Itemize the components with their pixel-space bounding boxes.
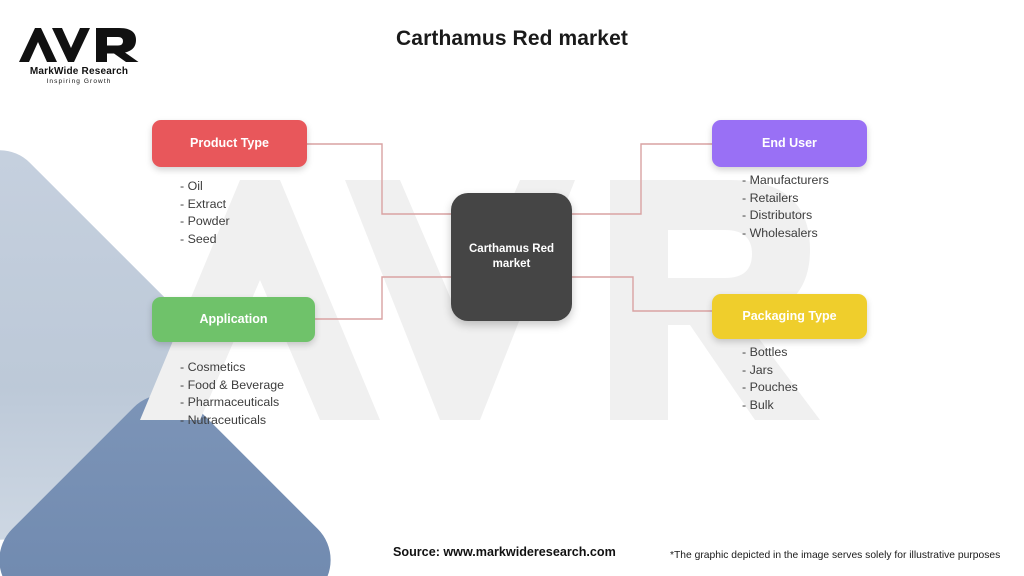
list-item: - Retailers xyxy=(742,190,829,208)
list-item: - Pharmaceuticals xyxy=(180,394,284,412)
segment-title-application: Application xyxy=(199,313,267,327)
footer-source: Source: www.markwideresearch.com xyxy=(393,545,616,559)
list-item: - Extract xyxy=(180,196,230,214)
list-item: - Jars xyxy=(742,362,798,380)
list-item: - Distributors xyxy=(742,207,829,225)
segment-header-product-type[interactable]: Product Type xyxy=(152,120,307,167)
segment-title-product-type: Product Type xyxy=(190,137,269,151)
center-node[interactable]: Carthamus Red market xyxy=(451,193,572,321)
list-item: - Food & Beverage xyxy=(180,377,284,395)
segment-list-product-type: - Oil - Extract - Powder - Seed xyxy=(180,178,230,248)
segment-list-application: - Cosmetics - Food & Beverage - Pharmace… xyxy=(180,359,284,429)
segment-header-application[interactable]: Application xyxy=(152,297,315,342)
list-item: - Powder xyxy=(180,213,230,231)
list-item: - Bulk xyxy=(742,397,798,415)
list-item: - Manufacturers xyxy=(742,172,829,190)
list-item: - Oil xyxy=(180,178,230,196)
list-item: - Bottles xyxy=(742,344,798,362)
segment-title-packaging-type: Packaging Type xyxy=(742,310,836,324)
list-item: - Pouches xyxy=(742,379,798,397)
center-node-label: Carthamus Red market xyxy=(461,242,562,272)
footer-disclaimer: *The graphic depicted in the image serve… xyxy=(670,550,1000,561)
segment-header-packaging-type[interactable]: Packaging Type xyxy=(712,294,867,339)
segment-list-packaging-type: - Bottles - Jars - Pouches - Bulk xyxy=(742,344,798,414)
list-item: - Nutraceuticals xyxy=(180,412,284,430)
infographic-canvas: MarkWide Research Inspiring Growth Carth… xyxy=(0,0,1024,576)
list-item: - Wholesalers xyxy=(742,225,829,243)
segment-title-end-user: End User xyxy=(762,137,817,151)
segment-header-end-user[interactable]: End User xyxy=(712,120,867,167)
list-item: - Seed xyxy=(180,231,230,249)
segment-list-end-user: - Manufacturers - Retailers - Distributo… xyxy=(742,172,829,242)
list-item: - Cosmetics xyxy=(180,359,284,377)
